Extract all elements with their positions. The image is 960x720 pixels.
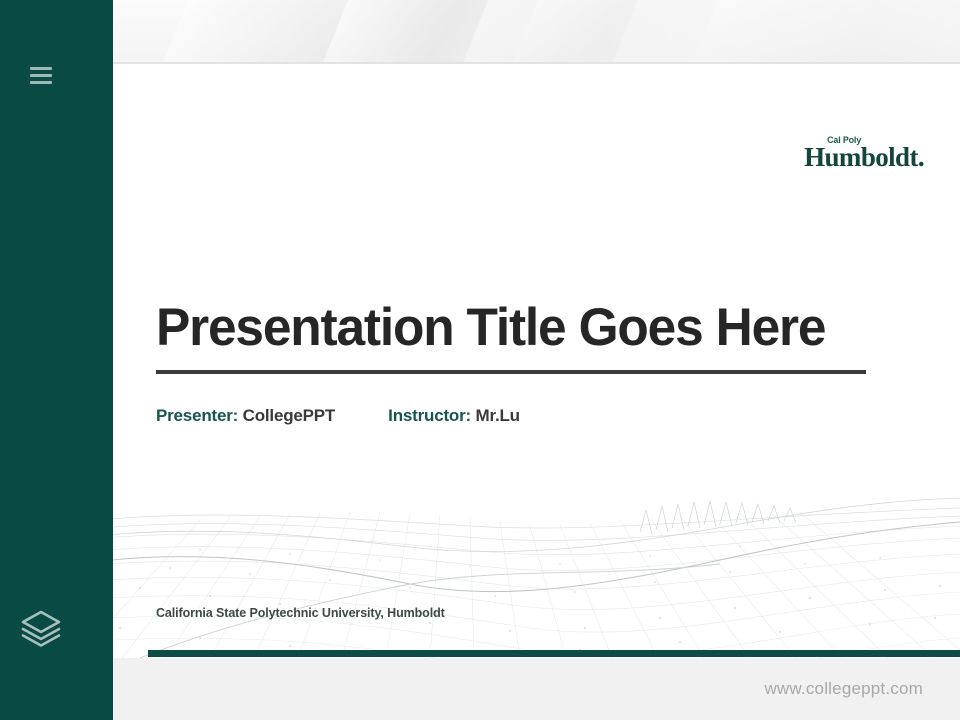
page-title: Presentation Title Goes Here (156, 300, 847, 356)
instructor-value: Mr.Lu (476, 406, 520, 425)
viewer-background-top-gradient (0, 0, 960, 64)
byline: Presenter: CollegePPT Instructor: Mr.Lu (156, 406, 520, 426)
left-sidebar-rail (0, 0, 113, 720)
title-underline-rule (156, 370, 866, 374)
layers-button[interactable] (16, 602, 66, 652)
university-logo: Cal Poly Humboldt. (804, 136, 924, 171)
viewer-footer: www.collegeppt.com (113, 658, 960, 720)
hamburger-menu-icon (30, 67, 52, 84)
menu-button[interactable] (20, 54, 62, 96)
slide-bottom-accent-bar (148, 650, 960, 657)
logo-wordmark: Humboldt. (804, 144, 924, 171)
slide-canvas[interactable]: Cal Poly Humboldt. Presentation Title Go… (80, 64, 960, 658)
slide-footer-text: California State Polytechnic University,… (156, 606, 445, 620)
instructor-label: Instructor: (388, 406, 471, 425)
title-block: Presentation Title Goes Here (156, 300, 868, 374)
presenter-label: Presenter: (156, 406, 238, 425)
presentation-viewer: Cal Poly Humboldt. Presentation Title Go… (0, 0, 960, 720)
layers-stack-icon (18, 604, 64, 650)
website-url: www.collegeppt.com (764, 679, 923, 699)
presenter-value: CollegePPT (243, 406, 335, 425)
wireframe-terrain-decoration (80, 468, 960, 658)
